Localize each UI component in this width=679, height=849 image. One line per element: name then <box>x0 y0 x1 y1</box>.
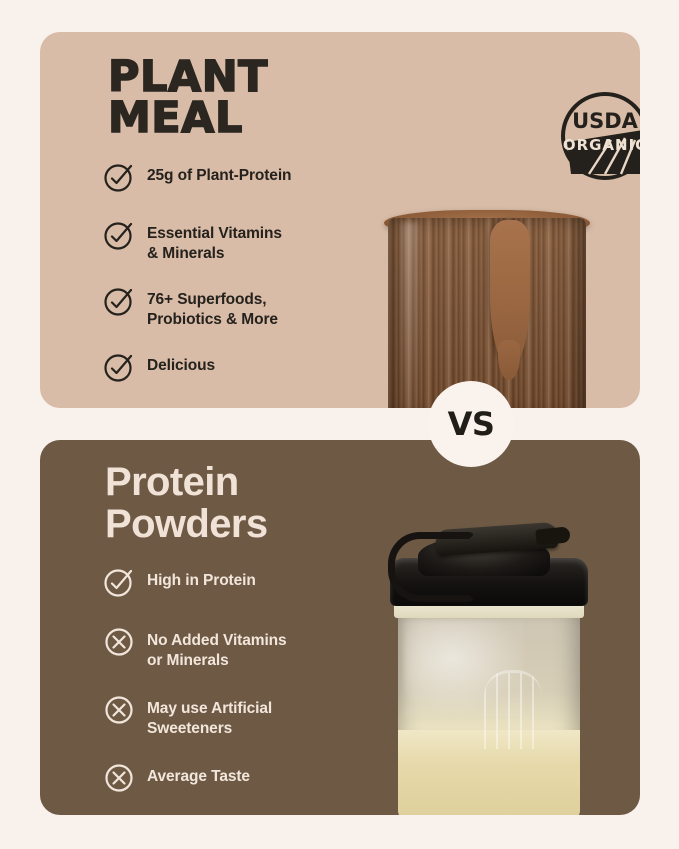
check-circle-icon <box>102 565 136 599</box>
shaker-handle <box>388 532 476 602</box>
feature-label: Delicious <box>147 353 215 376</box>
feature-label: 76+ Superfoods, Probiotics & More <box>147 287 278 329</box>
check-circle-icon <box>102 160 136 194</box>
smoothie-drip <box>490 220 530 368</box>
glass-highlight <box>402 222 418 408</box>
title-line-1: PLANT <box>108 57 268 98</box>
plant-meal-feature-list: 25g of Plant-Protein Essential Vitamins … <box>102 163 291 387</box>
check-circle-icon <box>102 350 136 384</box>
feature-label: Essential Vitamins & Minerals <box>147 221 282 263</box>
feature-label: No Added Vitamins or Minerals <box>147 628 287 670</box>
title-line-2: Powders <box>105 504 268 546</box>
feature-label: 25g of Plant-Protein <box>147 163 291 186</box>
feature-label: High in Protein <box>147 568 256 591</box>
usda-badge-top-text: USDA <box>572 109 639 133</box>
chocolate-smoothie-image <box>340 32 640 408</box>
versus-label: VS <box>448 405 495 443</box>
check-circle-icon <box>102 218 136 252</box>
usda-badge-bottom-text: ORGANIC <box>563 136 640 154</box>
feature-item: No Added Vitamins or Minerals <box>102 628 287 670</box>
feature-item: 25g of Plant-Protein <box>102 163 291 197</box>
title-line-2: MEAL <box>108 98 268 139</box>
feature-item: May use Artificial Sweeteners <box>102 696 287 738</box>
x-circle-icon <box>102 625 136 659</box>
feature-item: High in Protein <box>102 568 287 602</box>
protein-powders-feature-list: High in Protein No Added Vitamins or Min… <box>102 568 287 815</box>
x-circle-icon <box>102 761 136 795</box>
plant-meal-panel: PLANT MEAL USDA ORGANIC 25g of Pla <box>40 32 640 408</box>
feature-label: May use Artificial Sweeteners <box>147 696 272 738</box>
panel-divider <box>0 408 679 440</box>
shaker-pull-tab <box>535 526 570 545</box>
protein-powders-title: Protein Powders <box>105 462 268 545</box>
x-circle-icon <box>102 693 136 727</box>
protein-powders-panel: Protein Powders High in Protein <box>40 440 640 815</box>
feature-item: Essential Vitamins & Minerals <box>102 221 291 263</box>
shaker-logo-emboss <box>484 670 542 749</box>
title-line-1: Protein <box>105 462 268 504</box>
feature-label: Average Taste <box>147 764 250 787</box>
shaker-bottle-body <box>398 612 580 815</box>
feature-item: 76+ Superfoods, Probiotics & More <box>102 287 291 329</box>
check-circle-icon <box>102 284 136 318</box>
usda-organic-badge: USDA ORGANIC <box>559 90 640 182</box>
feature-item: Average Taste <box>102 764 287 798</box>
versus-badge: VS <box>428 381 514 467</box>
comparison-infographic: PLANT MEAL USDA ORGANIC 25g of Pla <box>0 0 679 849</box>
feature-item: Delicious <box>102 353 291 387</box>
plant-meal-title: PLANT MEAL <box>108 57 268 140</box>
protein-shaker-image <box>340 440 640 815</box>
